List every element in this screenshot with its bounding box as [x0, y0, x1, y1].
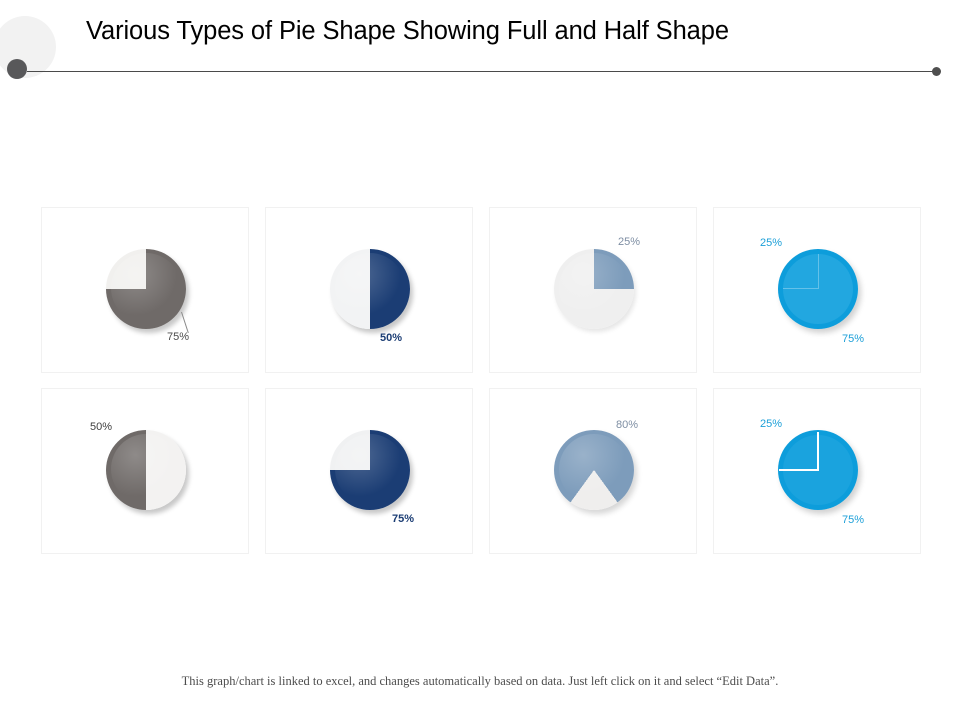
pie-label-value: 75% [392, 513, 414, 525]
pie-card-steel-25[interactable]: 25% [489, 207, 697, 373]
pie-label-value: 50% [380, 332, 402, 344]
pie-card-cyan-full-b[interactable]: 25% 75% [713, 388, 921, 554]
footer-note: This graph/chart is linked to excel, and… [0, 674, 960, 689]
pie-label-value: 75% [167, 331, 189, 343]
pie-chart-steel-25: 25% [490, 208, 696, 372]
header-dot-right-icon [932, 67, 941, 76]
pie-slices [106, 430, 186, 510]
pie-label-value-top: 25% [760, 237, 782, 249]
pie-chart-cyan-full-b: 25% 75% [714, 389, 920, 553]
pie-label-value: 50% [90, 421, 112, 433]
pie-label-value: 80% [616, 419, 638, 431]
pie-label-value-bottom: 75% [842, 514, 864, 526]
header-dot-left-icon [7, 59, 27, 79]
pie-slices [330, 249, 410, 329]
pie-card-gray-50[interactable]: 50% [41, 388, 249, 554]
pie-chart-cyan-full-a: 25% 75% [714, 208, 920, 372]
pie-slices [554, 430, 634, 510]
pie-card-cyan-full-a[interactable]: 25% 75% [713, 207, 921, 373]
header-horizontal-rule [27, 71, 935, 72]
pie-card-steel-80[interactable]: 80% [489, 388, 697, 554]
page-title: Various Types of Pie Shape Showing Full … [86, 17, 916, 46]
pie-chart-gray-50: 50% [42, 389, 248, 553]
pie-quarter-outline-horizontal [779, 469, 819, 471]
pie-label-value-bottom: 75% [842, 333, 864, 345]
pie-slices [554, 249, 634, 329]
pie-chart-gray-75: 75% [42, 208, 248, 372]
pie-card-grid: 75% 50% 25% 25% 75% [41, 207, 921, 554]
pie-chart-steel-80: 80% [490, 389, 696, 553]
pie-label-value-top: 25% [760, 418, 782, 430]
pie-card-navy-50[interactable]: 50% [265, 207, 473, 373]
pie-quarter-outline-vertical [817, 432, 819, 471]
page-header: Various Types of Pie Shape Showing Full … [0, 0, 960, 90]
pie-card-navy-75[interactable]: 75% [265, 388, 473, 554]
pie-slices [330, 430, 410, 510]
pie-chart-navy-75: 75% [266, 389, 472, 553]
pie-leader-line [181, 312, 189, 333]
pie-slices [106, 249, 186, 329]
pie-guide-vertical [818, 254, 819, 289]
pie-guide-horizontal [783, 288, 818, 289]
pie-chart-navy-50: 50% [266, 208, 472, 372]
pie-card-gray-75[interactable]: 75% [41, 207, 249, 373]
pie-label-value: 25% [618, 236, 640, 248]
